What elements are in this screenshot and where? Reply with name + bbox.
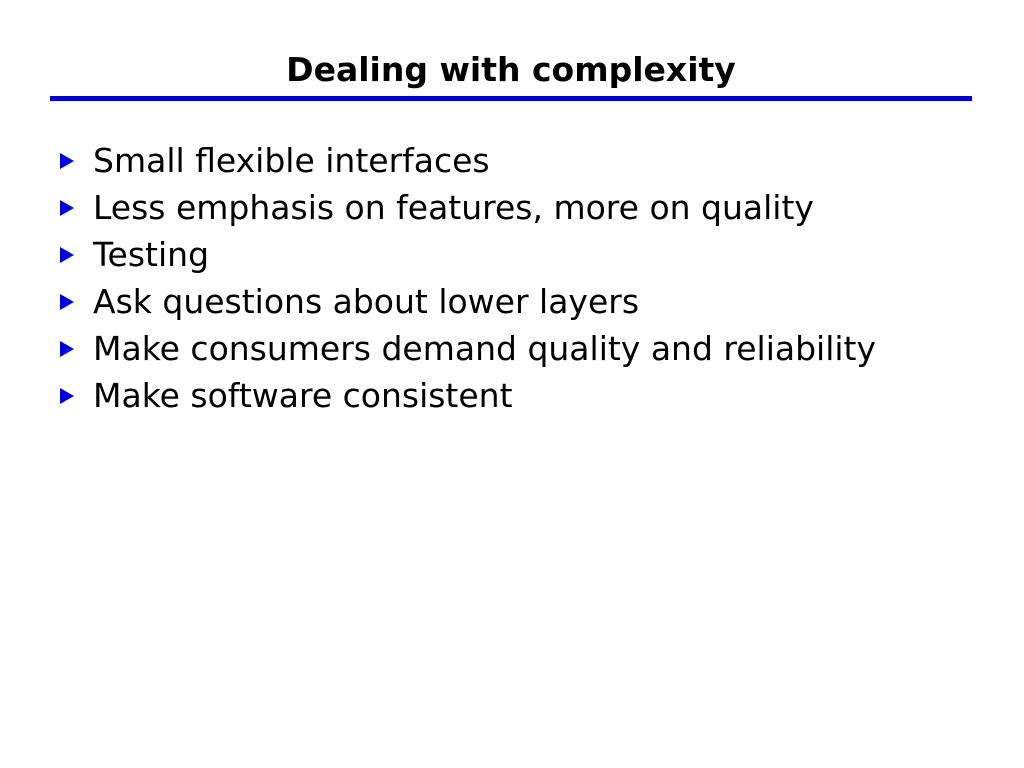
triangle-right-icon xyxy=(56,184,93,231)
list-item: Make consumers demand quality and reliab… xyxy=(56,325,976,372)
list-item-label: Ask questions about lower layers xyxy=(93,278,883,325)
list-item-label: Testing xyxy=(93,231,883,278)
triangle-right-icon xyxy=(56,231,93,278)
presentation-slide: Dealing with complexity Small flexible i… xyxy=(0,0,1024,768)
triangle-right-icon xyxy=(56,325,93,372)
list-item-label: Less emphasis on features, more on quali… xyxy=(93,184,883,231)
list-item: Testing xyxy=(56,231,976,278)
page-title: Dealing with complexity xyxy=(50,50,972,90)
list-item: Ask questions about lower layers xyxy=(56,278,976,325)
list-item: Small flexible interfaces xyxy=(56,137,976,184)
list-item-label: Make software consistent xyxy=(93,372,883,419)
title-block: Dealing with complexity xyxy=(50,50,972,90)
bullet-list: Small flexible interfaces Less emphasis … xyxy=(56,137,976,419)
list-item-label: Small flexible interfaces xyxy=(93,137,883,184)
list-item: Less emphasis on features, more on quali… xyxy=(56,184,976,231)
list-item: Make software consistent xyxy=(56,372,976,419)
triangle-right-icon xyxy=(56,372,93,419)
title-underline-rule xyxy=(50,96,972,101)
triangle-right-icon xyxy=(56,137,93,184)
list-item-label: Make consumers demand quality and reliab… xyxy=(93,325,883,372)
triangle-right-icon xyxy=(56,278,93,325)
